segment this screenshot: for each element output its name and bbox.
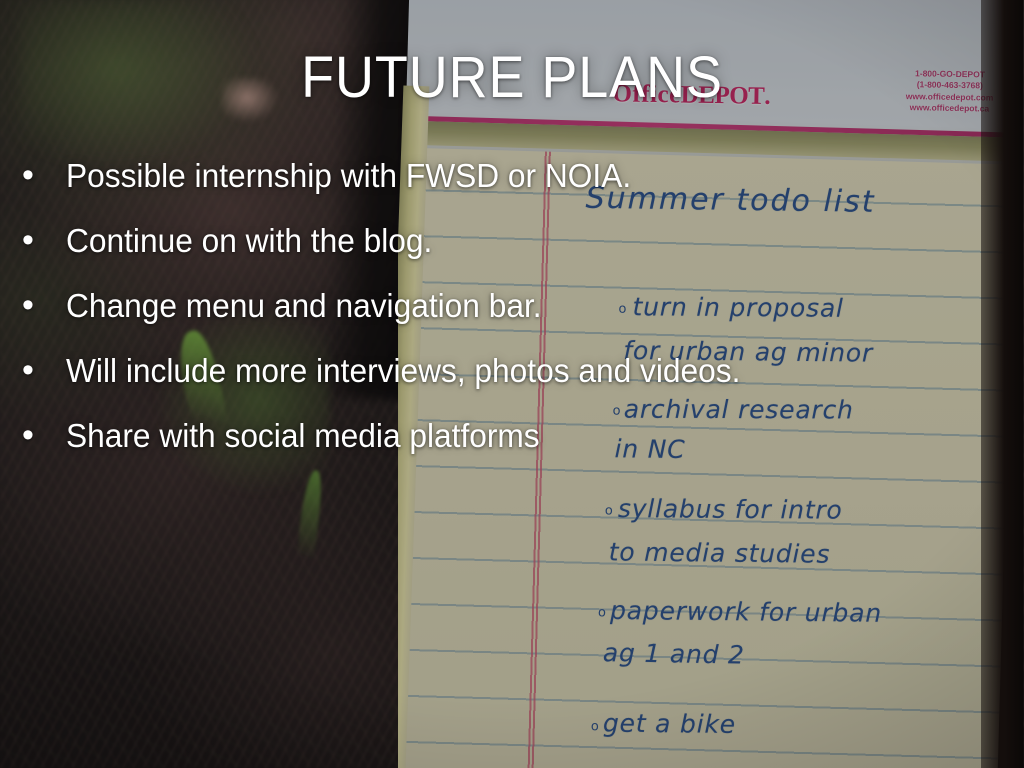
bullet-text: Change menu and navigation bar. (66, 283, 542, 329)
slide-content: FUTURE PLANS • Possible internship with … (0, 0, 1024, 768)
bullet-marker-icon: • (18, 283, 66, 327)
bullet-text: Possible internship with FWSD or NOIA. (66, 153, 631, 199)
bullet-item: • Share with social media platforms (18, 413, 1008, 478)
presentation-slide: OfficeDEPOT. 1-800-GO-DEPOT (1-800-463-3… (0, 0, 1024, 768)
bullet-text: Continue on with the blog. (66, 218, 432, 264)
bullet-item: • Continue on with the blog. (18, 218, 1008, 283)
bullet-text: Will include more interviews, photos and… (66, 348, 740, 394)
bullet-marker-icon: • (18, 153, 66, 197)
bullet-item: • Will include more interviews, photos a… (18, 348, 1008, 413)
bullet-item: • Change menu and navigation bar. (18, 283, 1008, 348)
bullet-marker-icon: • (18, 348, 66, 392)
bullet-text: Share with social media platforms (66, 413, 540, 459)
bullet-marker-icon: • (18, 413, 66, 457)
bullet-item: • Possible internship with FWSD or NOIA. (18, 153, 1008, 218)
bullet-marker-icon: • (18, 218, 66, 262)
slide-title: FUTURE PLANS (36, 44, 988, 111)
bullet-list: • Possible internship with FWSD or NOIA.… (18, 153, 1008, 478)
